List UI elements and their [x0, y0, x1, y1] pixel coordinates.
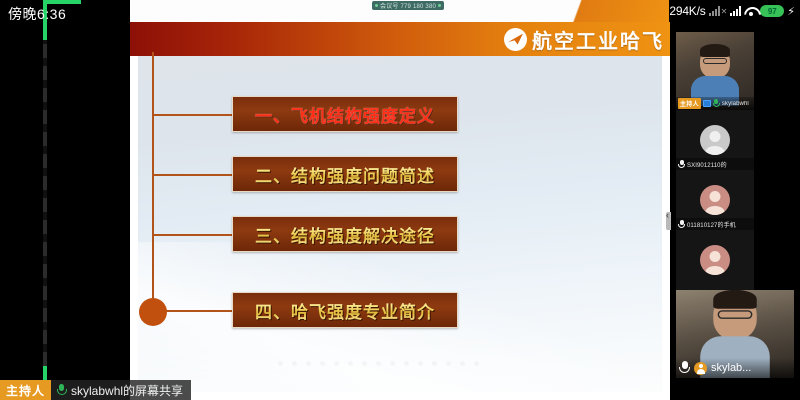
agenda-item-4[interactable]: 四、哈飞强度专业简介 [232, 292, 458, 328]
avatar [700, 185, 730, 215]
slide-footer-dots [278, 358, 528, 368]
bottom-host-badge: 主持人 [0, 380, 51, 400]
bottom-share-info: skylabwhl的屏幕共享 [51, 380, 191, 400]
charging-bolt-icon: ⚡ [787, 5, 795, 18]
avatar [700, 245, 730, 275]
agenda-item-2[interactable]: 二、结构强度问题简述 [232, 156, 458, 192]
participant-tile-3[interactable] [676, 230, 754, 290]
wifi-icon [744, 6, 757, 16]
clock-label: 傍晚6:36 [8, 4, 66, 24]
participant-namebar-1: SXI9012110的 [676, 158, 754, 170]
participant-name-4: skylab... [711, 362, 751, 374]
participant-tile-4[interactable]: skylab... [676, 290, 794, 378]
participant-face [700, 46, 730, 78]
signal-bars-icon [730, 6, 741, 16]
participant-name-0: skylabwhl [722, 101, 749, 107]
meeting-id-label: 会议号 779 180 380 [380, 1, 436, 10]
status-clock: 傍晚6:36 [0, 0, 130, 28]
mic-icon [57, 384, 67, 396]
agenda-item-1-label: 一、飞机结构强度定义 [255, 102, 435, 127]
mic-icon [678, 220, 685, 229]
participant-face [713, 293, 757, 339]
signal-x-icon: ✕ [721, 7, 728, 16]
avatar [700, 125, 730, 155]
bottom-share-bar[interactable]: 主持人 skylabwhl的屏幕共享 [0, 380, 300, 400]
participant-namebar-0: 主持人 skylabwhl [676, 97, 754, 110]
person-icon [694, 362, 707, 375]
meeting-status-dot [375, 4, 378, 7]
participant-namebar-2: 011810127的手机 [676, 218, 754, 230]
mic-icon [678, 160, 685, 169]
battery-icon: 97 [760, 5, 784, 17]
agenda-item-2-label: 二、结构强度问题简述 [255, 162, 435, 187]
participant-tile-0[interactable]: 主持人 skylabwhl [676, 32, 754, 110]
avic-eagle-logo-icon [504, 28, 527, 51]
meeting-lock-dot [438, 4, 441, 7]
participant-name-1: SXI9012110的 [687, 160, 727, 169]
participant-namebar-4: skylab... [676, 358, 794, 378]
participant-name-2: 011810127的手机 [687, 220, 736, 229]
brand-lockup: 航空工业哈飞 [504, 24, 664, 54]
shared-screen-ppt[interactable]: 航空工业哈飞 一、飞机结构强度定义 二、结构强度问题简述 三、结构强度解决途径 … [130, 0, 670, 400]
host-badge: 主持人 [678, 98, 701, 109]
tree-trunk-line [152, 52, 154, 308]
participant-tile-2[interactable]: 011810127的手机 [676, 170, 754, 230]
brand-name: 航空工业哈飞 [532, 25, 664, 54]
meeting-id-pill[interactable]: 会议号 779 180 380 [372, 1, 444, 10]
screen-root: 航空工业哈飞 一、飞机结构强度定义 二、结构强度问题简述 三、结构强度解决途径 … [0, 0, 800, 400]
agenda-item-3[interactable]: 三、结构强度解决途径 [232, 216, 458, 252]
status-bar-right: 294K/s ✕ 97 ⚡ [669, 0, 800, 22]
network-speed-label: 294K/s [669, 4, 705, 18]
participant-tile-1[interactable]: SXI9012110的 [676, 110, 754, 170]
slide-body: 一、飞机结构强度定义 二、结构强度问题简述 三、结构强度解决途径 四、哈飞强度专… [138, 56, 662, 392]
agenda-item-4-label: 四、哈飞强度专业简介 [255, 298, 435, 323]
mic-icon [713, 99, 720, 108]
rail-collapse-handle[interactable] [666, 212, 671, 230]
mic-icon [679, 361, 690, 375]
tree-node-circle [139, 298, 167, 326]
agenda-item-1[interactable]: 一、飞机结构强度定义 [232, 96, 458, 132]
screen-share-icon [703, 100, 711, 107]
agenda-item-3-label: 三、结构强度解决途径 [255, 222, 435, 247]
participant-rail[interactable]: 主持人 skylabwhl SXI9012110的 011810127的手机 [670, 22, 800, 400]
signal-bars-disabled-icon [709, 6, 720, 16]
share-frame-left [43, 0, 47, 400]
participant-avatar-wrap [676, 230, 754, 290]
bottom-share-label: skylabwhl的屏幕共享 [71, 382, 183, 399]
